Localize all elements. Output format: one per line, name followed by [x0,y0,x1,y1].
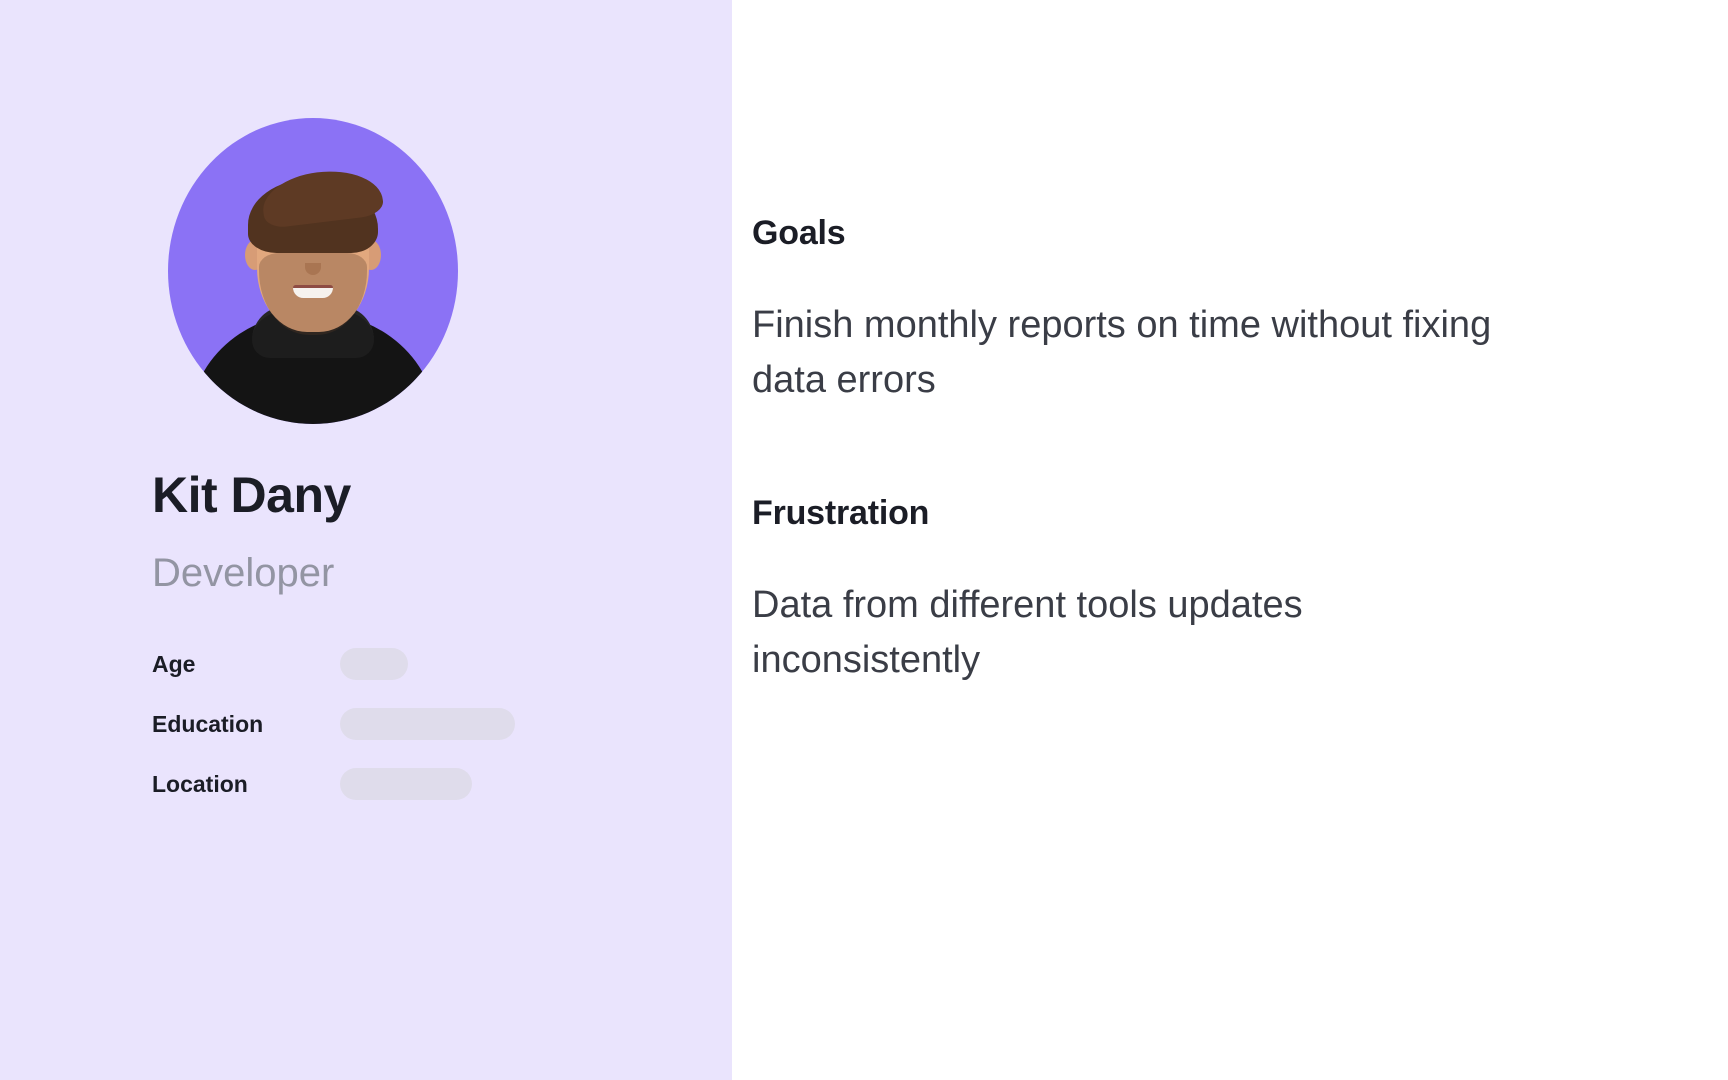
portrait-mouth-shape [293,285,333,298]
avatar-circle [168,118,458,424]
persona-attribute-list: Age Education Location [152,645,552,803]
section-title: Frustration [752,495,1632,532]
persona-right-panel: Goals Finish monthly reports on time wit… [732,0,1728,1080]
attribute-row-age: Age [152,645,552,683]
attribute-value-placeholder [340,768,472,800]
attribute-value-placeholder [340,648,408,680]
avatar-portrait-illustration [168,118,458,424]
attribute-label: Age [152,653,340,676]
persona-name: Kit Dany [152,470,351,520]
persona-left-panel: Kit Dany Developer Age Education Locatio… [0,0,732,1080]
avatar [168,118,458,424]
attribute-label: Location [152,773,340,796]
attribute-row-education: Education [152,705,552,743]
persona-role: Developer [152,549,334,597]
persona-detail-sections: Goals Finish monthly reports on time wit… [752,215,1632,688]
section-title: Goals [752,215,1632,252]
section-goals: Goals Finish monthly reports on time wit… [752,215,1632,409]
attribute-label: Education [152,713,340,736]
section-frustration: Frustration Data from different tools up… [752,495,1632,689]
section-body: Finish monthly reports on time without f… [752,298,1512,408]
attribute-row-location: Location [152,765,552,803]
persona-card: Kit Dany Developer Age Education Locatio… [0,0,1728,1080]
attribute-value-placeholder [340,708,515,740]
section-body: Data from different tools updates incons… [752,578,1512,688]
